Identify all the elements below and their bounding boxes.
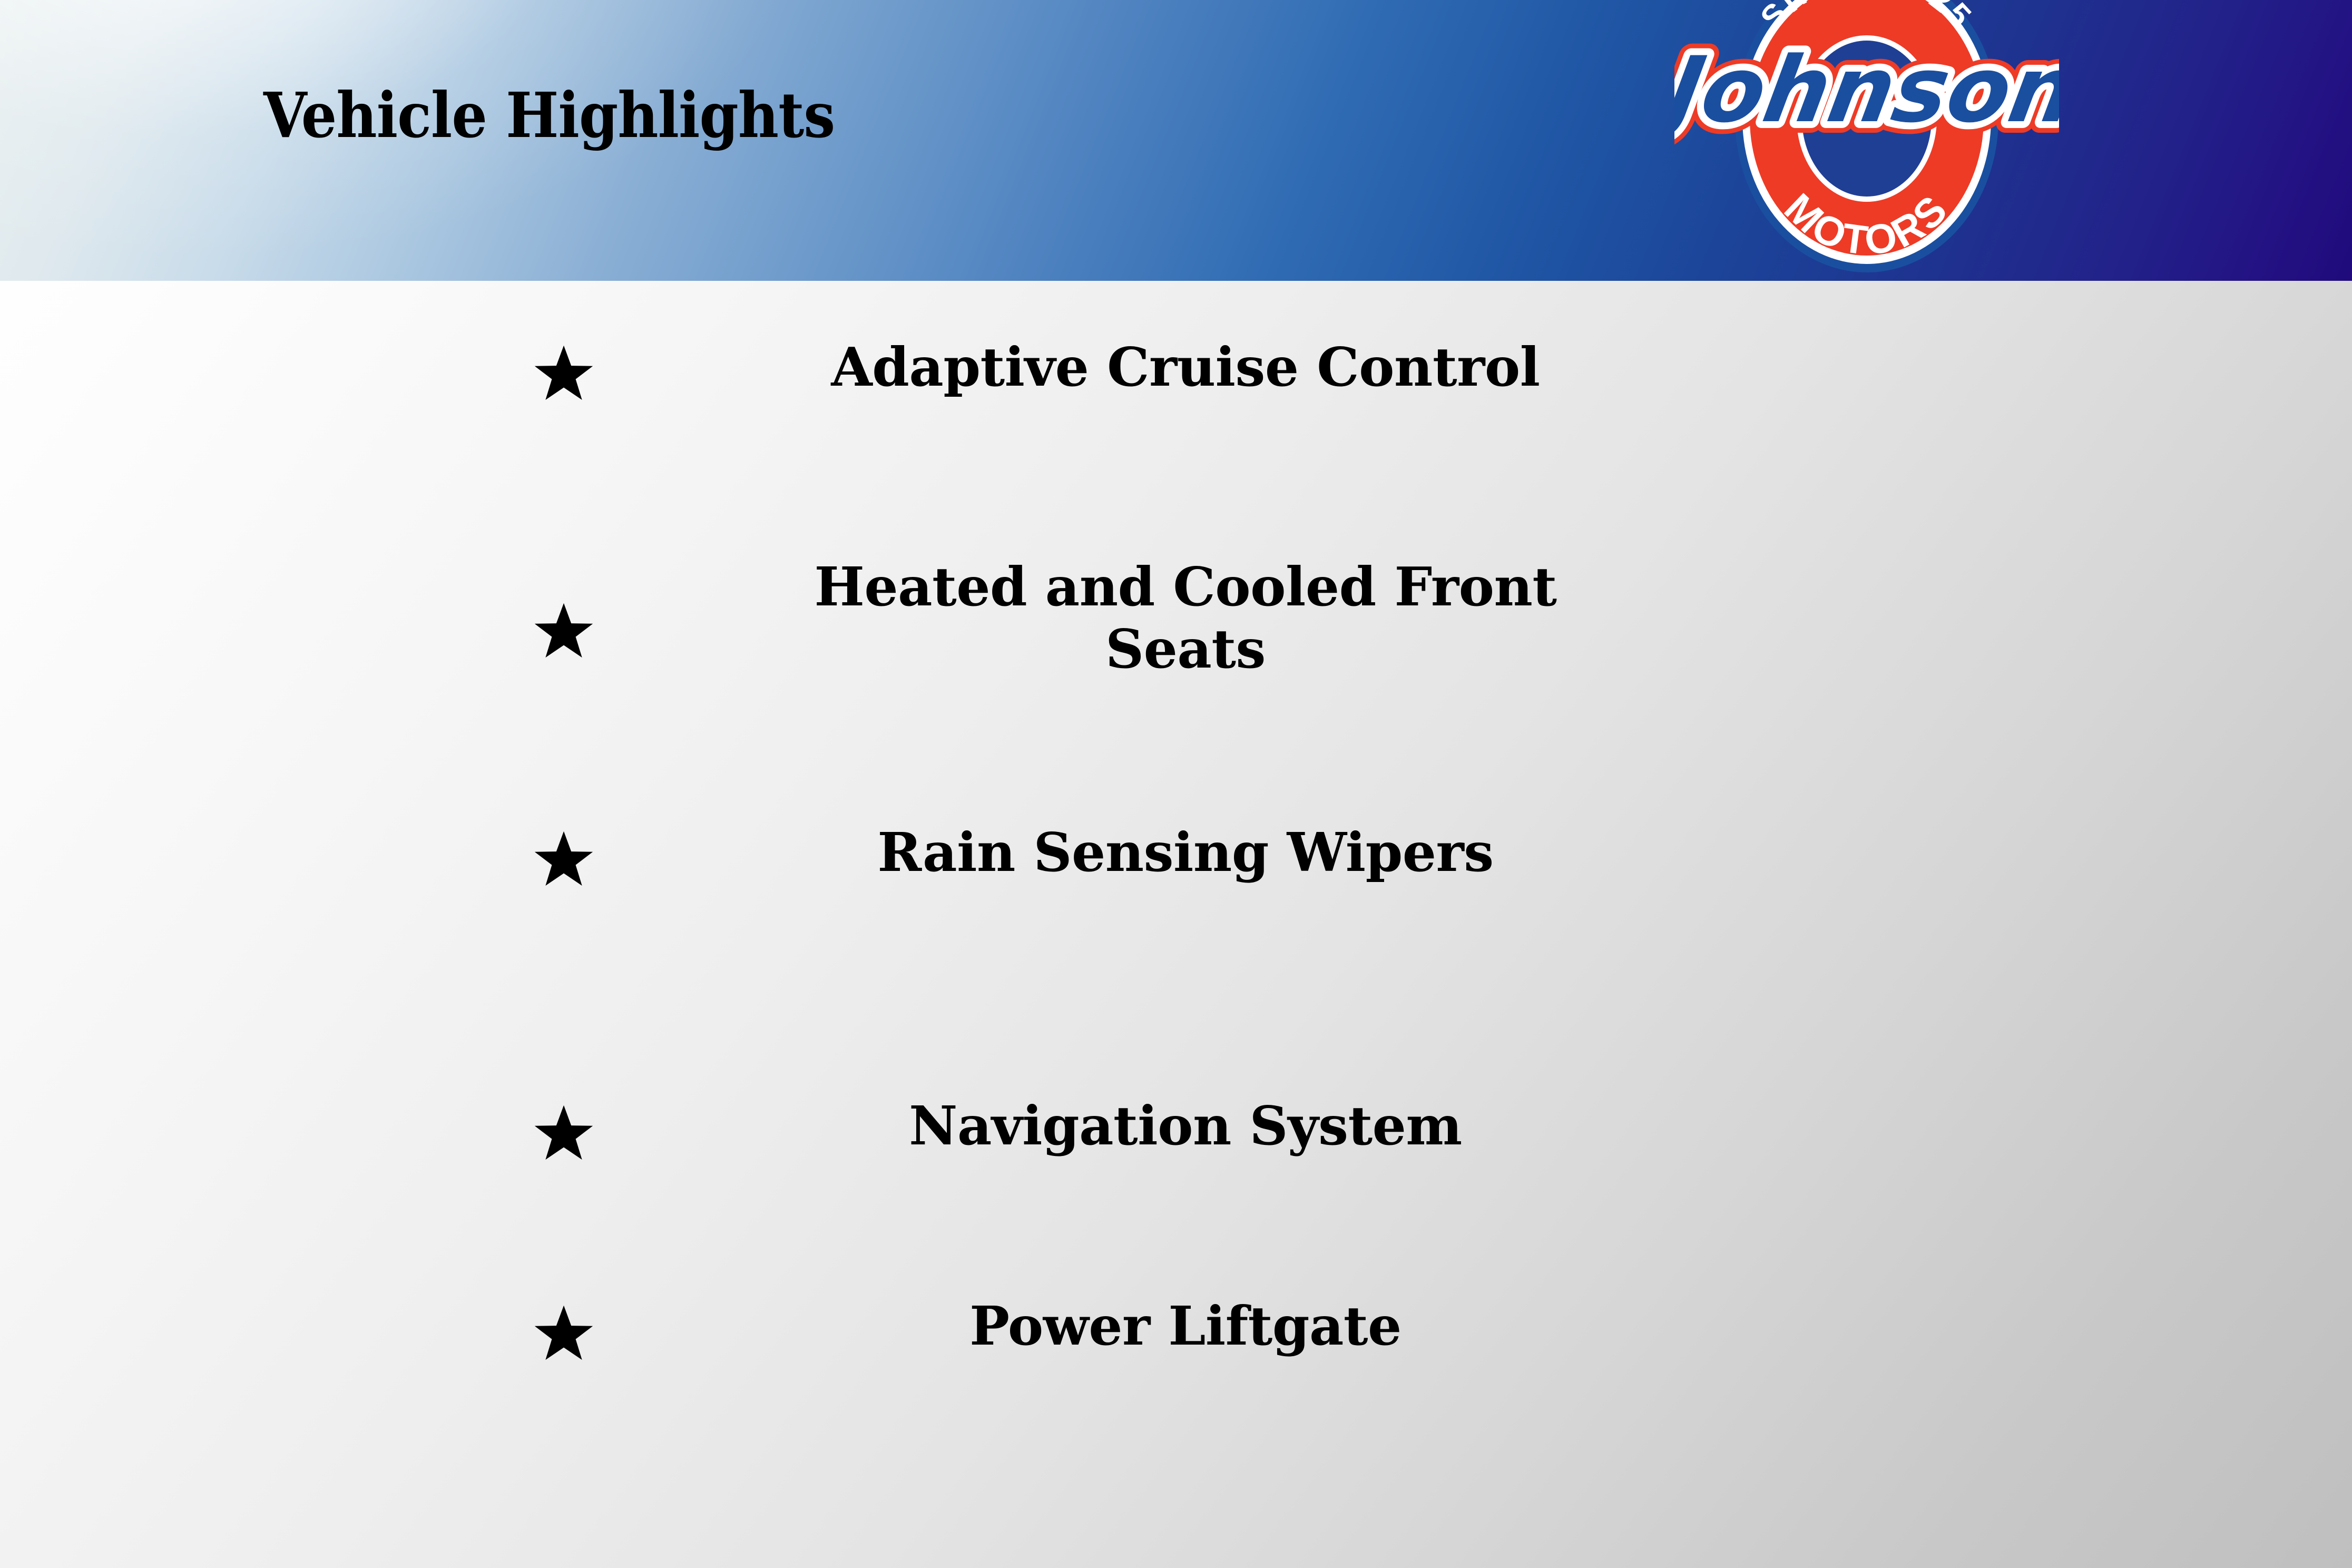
svg-text:Johnson: Johnson <box>1674 37 2059 142</box>
star-icon <box>532 1303 595 1366</box>
list-item-label: Navigation System <box>727 1095 1644 1157</box>
slide: Vehicle Highlights SINCE 1925 MOTORS <box>0 0 2352 1568</box>
star-icon <box>532 829 595 892</box>
list-item-label: Heated and Cooled Front Seats <box>727 556 1644 680</box>
list-item-label: Power Liftgate <box>727 1295 1644 1357</box>
star-icon <box>532 343 595 406</box>
list-item-label: Adaptive Cruise Control <box>727 336 1644 398</box>
johnson-motors-logo: SINCE 1925 MOTORS Johnson Johnson Johnso… <box>1674 0 2059 274</box>
logo-wordmark: Johnson Johnson Johnson <box>1674 37 2059 142</box>
highlights-list: Adaptive Cruise Control Heated and Coole… <box>0 281 2352 1568</box>
star-icon <box>532 601 595 664</box>
page-title: Vehicle Highlights <box>263 84 835 146</box>
star-icon <box>532 1103 595 1166</box>
list-item-label: Rain Sensing Wipers <box>727 821 1644 884</box>
